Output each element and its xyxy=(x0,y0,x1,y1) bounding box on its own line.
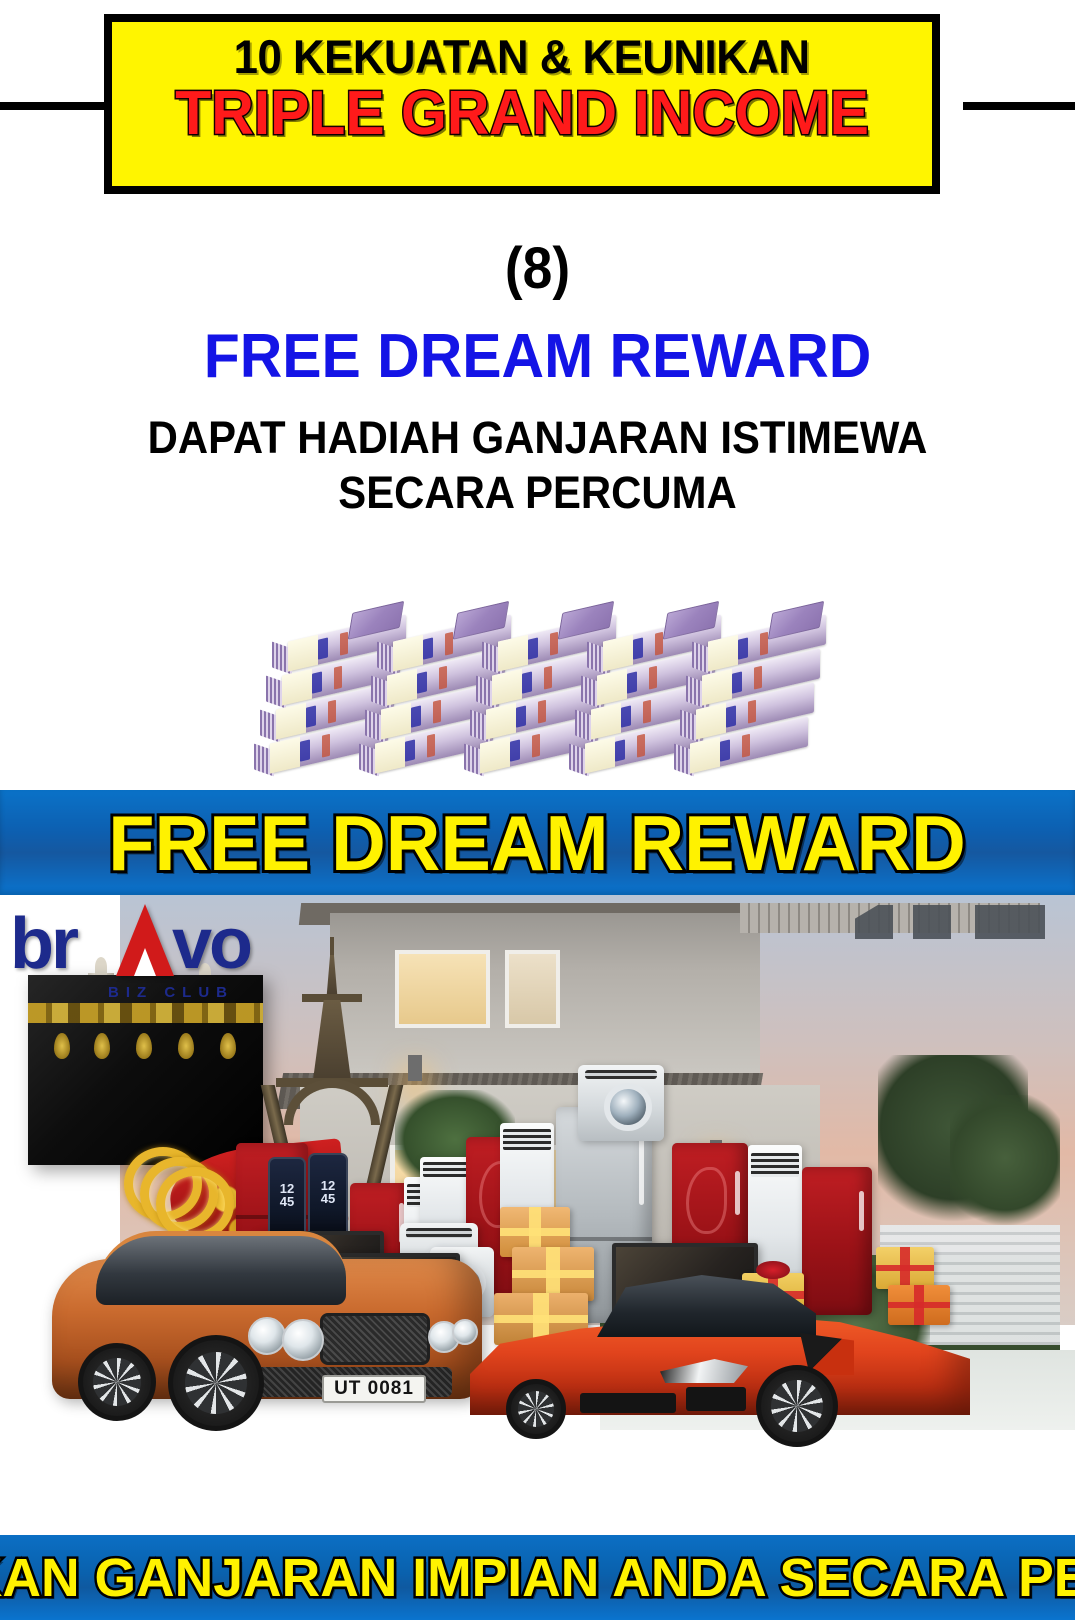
license-plate: UT 0081 xyxy=(322,1375,426,1403)
bravo-logo-wordmark-left: br xyxy=(10,908,76,980)
ac-vent xyxy=(503,1129,551,1149)
header-banner-box: 10 KEKUATAN & KEUNIKAN TRIPLE GRAND INCO… xyxy=(104,14,940,194)
blue-banner-text: FREE DREAM REWARD xyxy=(109,804,966,882)
house-window-upper-2 xyxy=(505,950,560,1028)
house-window-upper-1 xyxy=(395,950,490,1028)
header-section: 10 KEKUATAN & KEUNIKAN TRIPLE GRAND INCO… xyxy=(0,0,1075,200)
bottom-banner-text: DAPATKAN GANJARAN IMPIAN ANDA SECARA PER… xyxy=(0,1551,1075,1605)
ac-vent xyxy=(751,1153,799,1177)
fridge-rose-motif xyxy=(686,1167,728,1234)
phone-clock-minute: 45 xyxy=(310,1192,346,1205)
bravo-logo-a-chevron-icon xyxy=(116,904,174,976)
lambo-cabin xyxy=(578,1275,816,1337)
lamborghini-aventador-car xyxy=(470,1255,970,1445)
kaaba-motif xyxy=(220,1033,236,1059)
kaaba-motif xyxy=(94,1033,110,1059)
title-section: (8) FREE DREAM REWARD DAPAT HADIAH GANJA… xyxy=(0,240,1075,517)
bravo-logo-wordmark-right: vo xyxy=(172,908,250,980)
car-wheel xyxy=(78,1343,156,1421)
bentley-grille xyxy=(320,1313,430,1365)
bentley-cabin xyxy=(96,1231,346,1305)
phone-clock: 12 45 xyxy=(270,1182,304,1208)
phone-clock-hour: 12 xyxy=(270,1182,304,1195)
phone-clock: 12 45 xyxy=(310,1179,346,1205)
bravo-logo: br vo BIZ CLUB xyxy=(10,900,240,1010)
header-line1: 10 KEKUATAN & KEUNIKAN xyxy=(234,32,810,81)
subtitle-line2: SECARA PERCUMA xyxy=(38,469,1038,516)
money-bundle xyxy=(690,614,840,764)
lambo-front-intake xyxy=(686,1387,746,1411)
section-number: (8) xyxy=(43,240,1032,298)
subtitle-line1: DAPAT HADIAH GANJARAN ISTIMEWA xyxy=(38,414,1038,461)
balcony-furniture xyxy=(855,905,1045,939)
money-stacks-image xyxy=(0,608,1075,786)
header-rule-right xyxy=(963,102,1075,110)
phone-clock-hour: 12 xyxy=(310,1179,346,1192)
washing-machine xyxy=(578,1065,664,1141)
car-wheel xyxy=(506,1379,566,1439)
free-dream-reward-banner: FREE DREAM REWARD xyxy=(0,790,1075,895)
phone-clock-minute: 45 xyxy=(270,1195,304,1208)
wall-lamp-icon xyxy=(408,1055,422,1081)
headlight xyxy=(248,1317,286,1355)
header-rule-left xyxy=(0,102,112,110)
bravo-logo-tagline: BIZ CLUB xyxy=(108,984,234,1001)
kaaba-motif xyxy=(136,1033,152,1059)
eiffel-top-section xyxy=(320,955,344,995)
tree xyxy=(950,1095,1060,1235)
page-title: FREE DREAM REWARD xyxy=(27,326,1048,388)
lambo-front-intake xyxy=(580,1393,676,1413)
rewards-collage-image: 12 45 12 45 xyxy=(0,895,1075,1535)
car-wheel xyxy=(756,1365,838,1447)
washer-door xyxy=(604,1083,652,1131)
kaaba-motif xyxy=(178,1033,194,1059)
eiffel-mid-section xyxy=(306,1000,358,1078)
money-bundle-row xyxy=(270,608,810,786)
eiffel-spire xyxy=(330,937,334,957)
kaaba-motif xyxy=(54,1033,70,1059)
ac-vent xyxy=(423,1162,469,1177)
bentley-continental-car: UT 0081 xyxy=(52,1217,482,1432)
washer-control-panel xyxy=(585,1070,657,1080)
car-wheel xyxy=(168,1335,264,1431)
headlight xyxy=(282,1319,324,1361)
header-line2: TRIPLE GRAND INCOME xyxy=(175,83,869,145)
bottom-call-to-action-banner: DAPATKAN GANJARAN IMPIAN ANDA SECARA PER… xyxy=(0,1535,1075,1620)
